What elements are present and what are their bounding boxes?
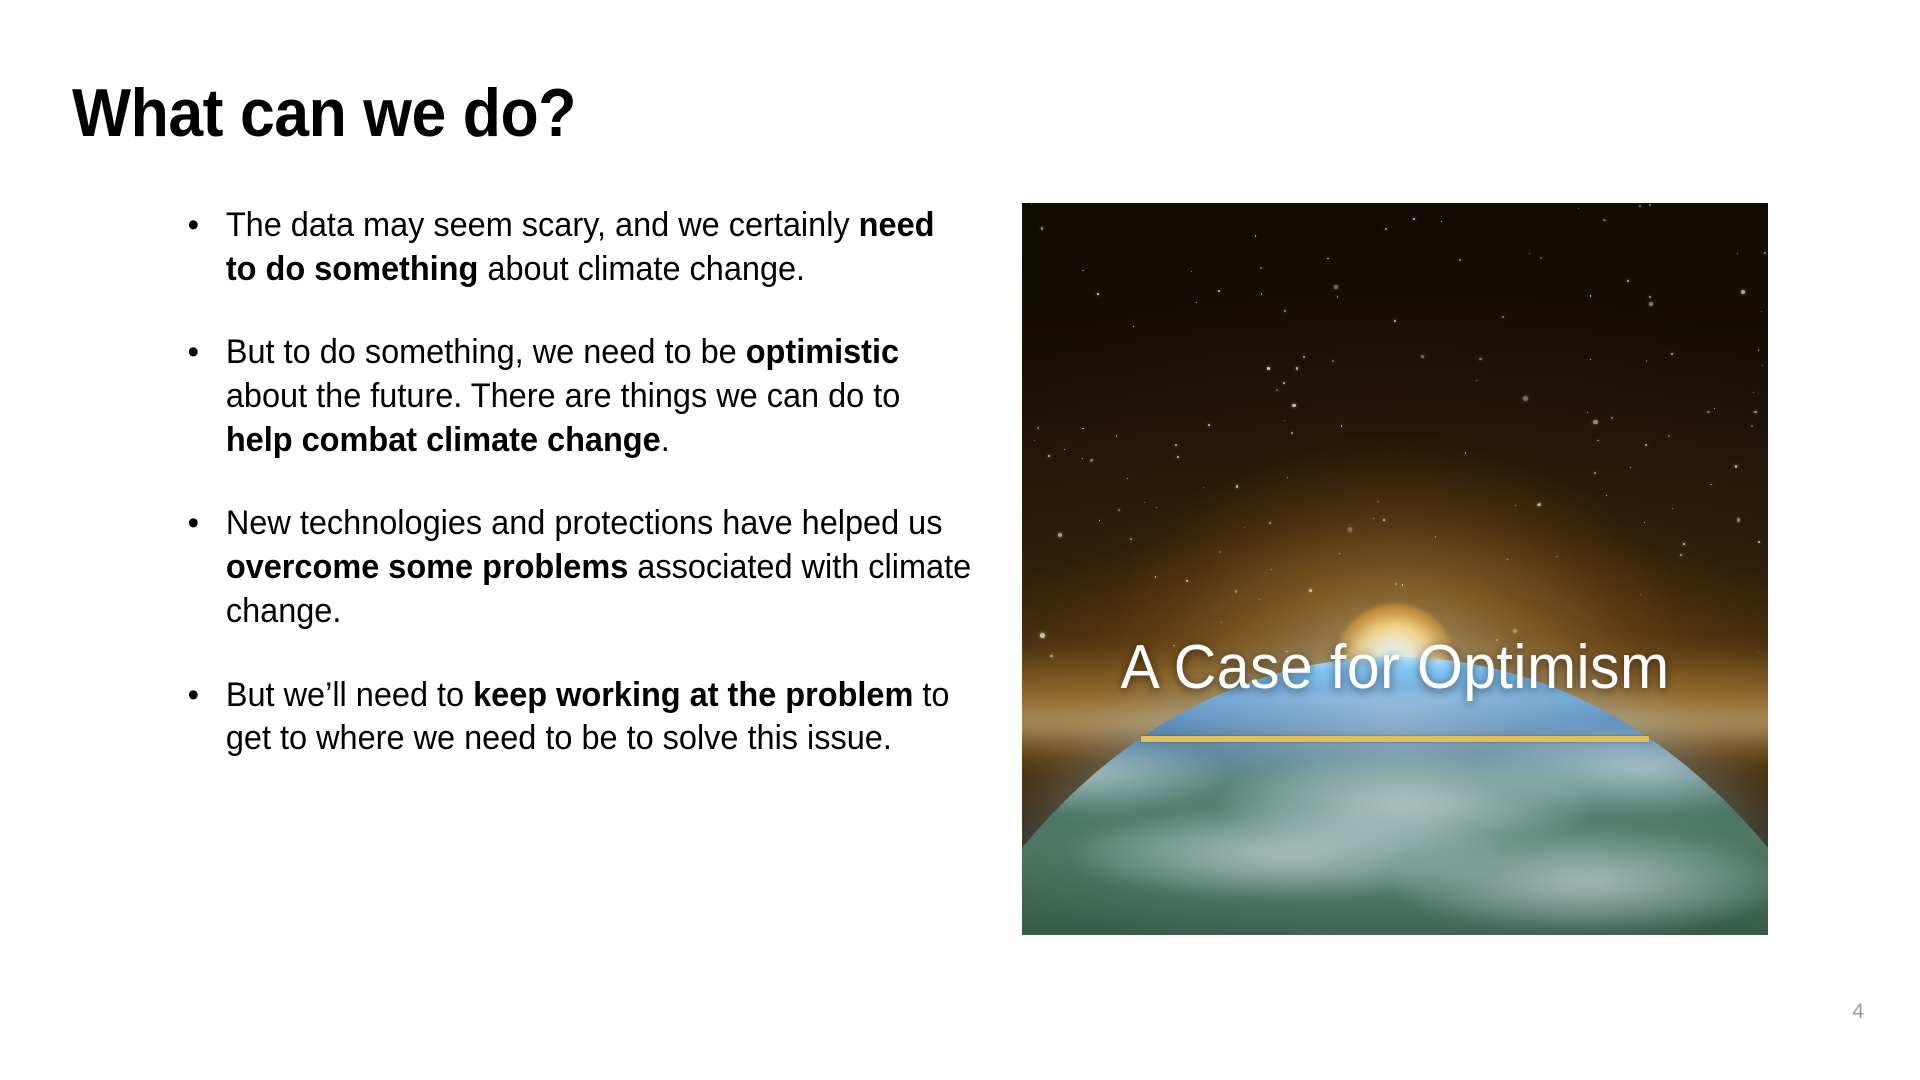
bullet-emphasis-text: overcome some problems: [226, 548, 628, 586]
bullet-item: •But to do something, we need to be opti…: [180, 331, 973, 462]
earth-limb: [1022, 657, 1768, 935]
bullet-body-column: •The data may seem scary, and we certain…: [180, 204, 1010, 761]
bullet-text: The data may seem scary, and we certainl…: [226, 206, 859, 244]
bullet-marker-icon: •: [188, 674, 199, 718]
bullet-list: •The data may seem scary, and we certain…: [180, 204, 1010, 761]
bullet-text: .: [661, 421, 670, 459]
bullet-emphasis-text: optimistic: [746, 333, 899, 371]
bullet-emphasis-text: keep working at the problem: [473, 676, 913, 714]
bullet-marker-icon: •: [188, 204, 199, 248]
page-title: What can we do?: [72, 74, 576, 152]
slide-image-earth-sunrise: A Case for Optimism: [1022, 203, 1768, 935]
bullet-item: •But we’ll need to keep working at the p…: [180, 674, 973, 761]
bullet-text: New technologies and protections have he…: [226, 504, 943, 542]
bullet-item: •The data may seem scary, and we certain…: [180, 204, 973, 291]
bullet-marker-icon: •: [188, 331, 199, 375]
bullet-text: But we’ll need to: [226, 676, 473, 714]
slide-page-number: 4: [1852, 1000, 1864, 1024]
bullet-emphasis-text: help combat climate change: [226, 421, 661, 459]
bullet-text: But to do something, we need to be: [226, 333, 746, 371]
bullet-text: about the future. There are things we ca…: [226, 377, 900, 415]
bullet-text: about climate change.: [478, 250, 805, 288]
bullet-item: •New technologies and protections have h…: [180, 502, 973, 633]
city-lights-layer: [1022, 657, 1768, 935]
slide-canvas: What can we do? •The data may seem scary…: [0, 0, 1920, 1080]
bullet-marker-icon: •: [188, 502, 199, 546]
